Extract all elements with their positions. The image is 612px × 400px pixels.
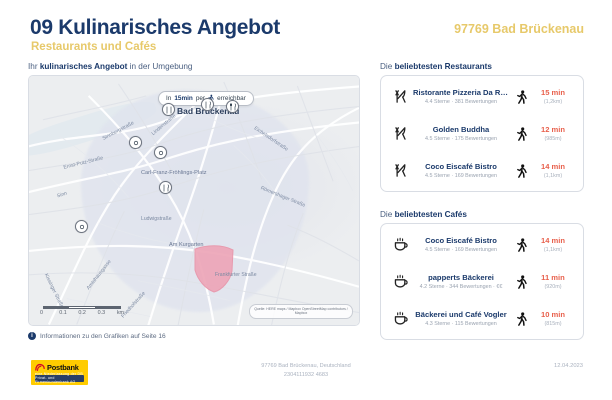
poi-name: Bäckerei und Café Vogler: [413, 310, 509, 319]
footer-reference: 2304111932 4683: [0, 371, 612, 380]
poi-name: Golden Buddha: [413, 125, 509, 134]
walk-distance: (1,2km): [532, 99, 574, 105]
table-row[interactable]: Ristorante Pizzeria Da Rocco 4.4 Sterne …: [381, 78, 583, 115]
map-caption: Ihr kulinarisches Angebot in der Umgebun…: [28, 62, 360, 71]
map-poi-cafe-3[interactable]: [75, 220, 88, 233]
row-text: Coco Eiscafé Bistro 4.5 Sterne · 169 Bew…: [410, 162, 512, 180]
restaurants-heading-bold: beliebtesten Restaurants: [395, 62, 492, 71]
map-canvas[interactable]: In 15min per erreichbar Bad Brückenau: [28, 75, 360, 326]
walking-icon: [512, 164, 532, 178]
scale-tick: 0: [40, 310, 59, 316]
map-poi-cafe-2[interactable]: [154, 146, 167, 159]
table-row[interactable]: Coco Eiscafé Bistro 4.5 Sterne · 169 Bew…: [381, 152, 583, 189]
location-label: 97769 Bad Brückenau: [454, 22, 584, 36]
poi-lists: Die beliebtesten Restaurants Ristorante …: [380, 62, 584, 340]
row-duration: 14 min (1,1km): [532, 162, 574, 180]
walk-distance: (815m): [532, 321, 574, 327]
walking-icon: [512, 238, 532, 252]
walking-icon: [512, 90, 532, 104]
walk-time: 12 min: [532, 125, 574, 134]
map-attribution: Quelle: HERE maps / Mapbox OpenStreetMap…: [249, 304, 353, 319]
walk-time: 15 min: [532, 88, 574, 97]
map-poi-restaurant-2[interactable]: [201, 98, 214, 111]
row-text: Golden Buddha 4.5 Sterne · 175 Bewertung…: [410, 125, 512, 143]
row-text: Coco Eiscafé Bistro 4.5 Sterne · 169 Bew…: [410, 236, 512, 254]
footer-meta: 97769 Bad Brückenau, Deutschland 2304111…: [0, 362, 612, 380]
map-scale-bar: 0 0.1 0.2 0.3 km: [43, 306, 136, 316]
info-icon: i: [28, 332, 36, 340]
map-poi-restaurant-1[interactable]: [226, 100, 239, 113]
table-row[interactable]: Bäckerei und Café Vogler 4.3 Sterne · 11…: [381, 300, 583, 337]
cafes-heading-bold: beliebtesten Cafés: [395, 210, 467, 219]
row-duration: 14 min (1,1km): [532, 236, 574, 254]
map-poi-restaurant-3[interactable]: [162, 103, 175, 116]
cutlery-icon: [204, 101, 212, 109]
cutlery-icon: [390, 163, 410, 178]
cutlery-icon: [229, 103, 237, 111]
map-poi-restaurant-4[interactable]: [159, 181, 172, 194]
scale-tick: 0.3: [98, 310, 117, 316]
page-title: 09 Kulinarisches Angebot: [30, 16, 280, 40]
row-duration: 15 min (1,2km): [532, 88, 574, 106]
cafes-heading: Die beliebtesten Cafés: [380, 210, 584, 219]
cafes-heading-prefix: Die: [380, 210, 395, 219]
restaurants-heading-prefix: Die: [380, 62, 395, 71]
cutlery-icon: [162, 184, 170, 192]
walk-distance: (985m): [532, 136, 574, 142]
page-footer: Postbank eine Niederlassung der DB Priva…: [0, 356, 612, 400]
map-poi-cafe-1[interactable]: [129, 136, 142, 149]
cutlery-icon: [390, 89, 410, 104]
table-row[interactable]: papperts Bäckerei 4.2 Sterne · 344 Bewer…: [381, 263, 583, 300]
poi-rating: 4.5 Sterne · 169 Bewertungen: [413, 173, 509, 179]
reach-pill-value: 15min: [174, 95, 192, 102]
row-text: Ristorante Pizzeria Da Rocco 4.4 Sterne …: [410, 88, 512, 106]
coffee-cup-icon: [78, 223, 86, 231]
row-text: papperts Bäckerei 4.2 Sterne · 344 Bewer…: [410, 273, 512, 291]
coffee-cup-icon: [390, 311, 410, 326]
cutlery-icon: [165, 106, 173, 114]
poi-rating: 4.5 Sterne · 175 Bewertungen: [413, 136, 509, 142]
footer-address: 97769 Bad Brückenau, Deutschland: [0, 362, 612, 371]
scale-unit: km: [117, 310, 136, 316]
table-row[interactable]: Coco Eiscafé Bistro 4.5 Sterne · 169 Bew…: [381, 226, 583, 263]
page-subtitle: Restaurants und Cafés: [31, 41, 156, 53]
map-caption-bold: kulinarisches Angebot: [40, 62, 128, 71]
map-caption-prefix: Ihr: [28, 62, 40, 71]
poi-name: papperts Bäckerei: [413, 273, 509, 282]
walk-distance: (920m): [532, 284, 574, 290]
row-text: Bäckerei und Café Vogler 4.3 Sterne · 11…: [410, 310, 512, 328]
walk-time: 11 min: [532, 273, 574, 282]
row-duration: 12 min (985m): [532, 125, 574, 143]
poi-name: Coco Eiscafé Bistro: [413, 236, 509, 245]
footer-date: 12.04.2023: [554, 363, 583, 369]
walk-time: 14 min: [532, 236, 574, 245]
restaurants-heading: Die beliebtesten Restaurants: [380, 62, 584, 71]
walk-distance: (1,1km): [532, 173, 574, 179]
poi-rating: 4.4 Sterne · 381 Bewertungen: [413, 99, 509, 105]
coffee-cup-icon: [390, 237, 410, 252]
cafes-card: Coco Eiscafé Bistro 4.5 Sterne · 169 Bew…: [380, 223, 584, 340]
coffee-cup-icon: [132, 139, 140, 147]
coffee-cup-icon: [390, 274, 410, 289]
walking-icon: [512, 275, 532, 289]
restaurants-card: Ristorante Pizzeria Da Rocco 4.4 Sterne …: [380, 75, 584, 192]
map-panel: Ihr kulinarisches Angebot in der Umgebun…: [28, 62, 360, 340]
coffee-cup-icon: [157, 149, 165, 157]
walk-time: 10 min: [532, 310, 574, 319]
poi-name: Coco Eiscafé Bistro: [413, 162, 509, 171]
walking-icon: [512, 312, 532, 326]
map-caption-suffix: in der Umgebung: [127, 62, 192, 71]
poi-name: Ristorante Pizzeria Da Rocco: [413, 88, 509, 97]
map-highlight-parcel: [192, 243, 236, 293]
page-header: 09 Kulinarisches Angebot Restaurants und…: [0, 0, 612, 58]
reach-pill-prefix: In: [166, 95, 171, 102]
row-duration: 11 min (920m): [532, 273, 574, 291]
cutlery-icon: [390, 126, 410, 141]
walk-time: 14 min: [532, 162, 574, 171]
poi-rating: 4.2 Sterne · 344 Bewertungen · €€: [413, 284, 509, 290]
table-row[interactable]: Golden Buddha 4.5 Sterne · 175 Bewertung…: [381, 115, 583, 152]
walk-distance: (1,1km): [532, 247, 574, 253]
scale-tick: 0.1: [59, 310, 78, 316]
poi-rating: 4.3 Sterne · 115 Bewertungen: [413, 321, 509, 327]
scale-tick: 0.2: [78, 310, 97, 316]
poi-rating: 4.5 Sterne · 169 Bewertungen: [413, 247, 509, 253]
walking-icon: [512, 127, 532, 141]
map-footnote-text: Informationen zu den Grafiken auf Seite …: [40, 333, 166, 340]
row-duration: 10 min (815m): [532, 310, 574, 328]
map-footnote: i Informationen zu den Grafiken auf Seit…: [28, 332, 360, 340]
